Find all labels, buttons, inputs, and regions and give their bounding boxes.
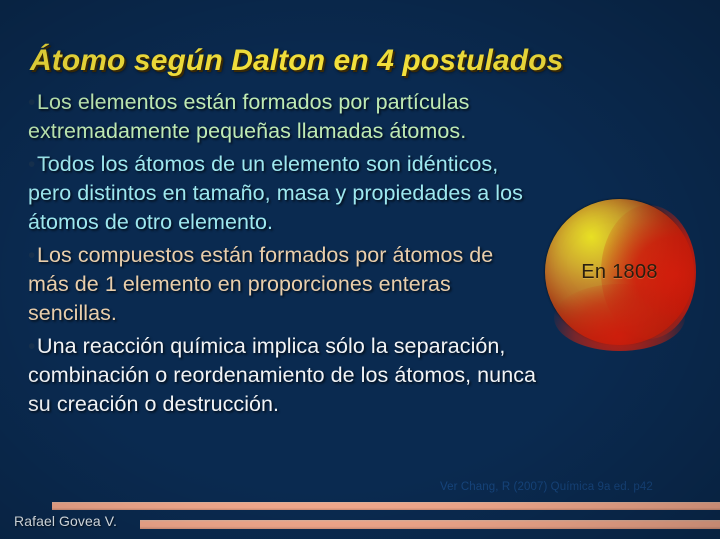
list-item-text: Los elementos están formados por partícu… xyxy=(28,90,469,143)
footer-bar-top xyxy=(52,502,720,510)
postulados-list: •Los elementos están formados por partíc… xyxy=(28,88,538,419)
list-item: •Los elementos están formados por partíc… xyxy=(28,88,538,146)
list-item: •Una reacción química implica sólo la se… xyxy=(28,332,538,419)
sphere-label: En 1808 xyxy=(545,199,694,345)
citation-text: Ver Chang, R (2007) Química 9a ed. p42 xyxy=(440,481,705,493)
list-item-text: Todos los átomos de un elemento son idén… xyxy=(28,152,523,234)
bullet-marker-icon: • xyxy=(28,332,37,361)
list-item: •Todos los átomos de un elemento son idé… xyxy=(28,150,538,237)
bullet-marker-icon: • xyxy=(28,241,37,270)
bullet-marker-icon: • xyxy=(28,150,37,179)
list-item: •Los compuestos están formados por átomo… xyxy=(28,241,538,328)
list-item-text: Una reacción química implica sólo la sep… xyxy=(28,334,536,416)
footer-author: Rafael Govea V. xyxy=(14,513,117,529)
bullet-marker-icon: • xyxy=(28,88,37,117)
year-sphere-graphic: En 1808 xyxy=(545,199,694,345)
page-title: Átomo según Dalton en 4 postulados xyxy=(30,44,690,78)
slide-canvas: Átomo según Dalton en 4 postulados •Los … xyxy=(0,0,720,539)
list-item-text: Los compuestos están formados por átomos… xyxy=(28,243,493,325)
footer-bar-bottom xyxy=(140,520,720,529)
